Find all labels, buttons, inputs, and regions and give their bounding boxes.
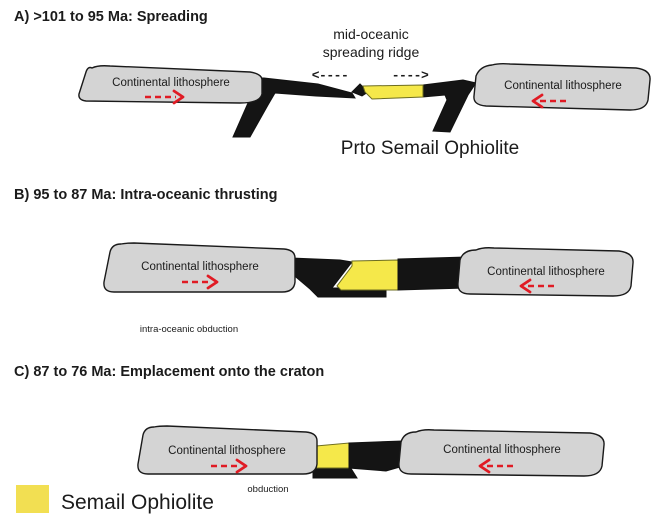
panel-b-heading: B) 95 to 87 Ma: Intra-oceanic thrusting [14, 187, 277, 203]
panel-b-caption: intra-oceanic obduction [140, 324, 238, 335]
panel-b-right-block-label: Continental lithosphere [487, 266, 605, 278]
legend-label: Semail Ophiolite [61, 491, 214, 514]
spreading-arrow-left: <---- [312, 68, 349, 83]
panel-a-heading: A) >101 to 95 Ma: Spreading [14, 9, 208, 25]
oceanic-crust-right-c [349, 441, 402, 471]
panel-b-left-block-label: Continental lithosphere [141, 261, 259, 273]
panel-a-right-block-label: Continental lithosphere [504, 80, 622, 92]
oceanic-crust-right-b [398, 257, 466, 290]
panel-a-left-block-label: Continental lithosphere [112, 77, 230, 89]
panel-c-caption: obduction [247, 484, 288, 495]
proto-ophiolite-a [363, 85, 423, 99]
ophiolite-emplacement-figure: A) >101 to 95 Ma: Spreading Continental … [0, 0, 665, 525]
panel-c-left-block-label: Continental lithosphere [168, 445, 286, 457]
ridge-label-line2: spreading ridge [323, 44, 420, 60]
panel-c-right-block-label: Continental lithosphere [443, 444, 561, 456]
panel-a-caption: Prto Semail Ophiolite [341, 138, 519, 159]
ridge-label-line1: mid-oceanic [333, 26, 408, 42]
ophiolite-swatch [16, 485, 49, 513]
panel-c-heading: C) 87 to 76 Ma: Emplacement onto the cra… [14, 364, 324, 380]
spreading-arrow-right: ----> [392, 68, 429, 83]
